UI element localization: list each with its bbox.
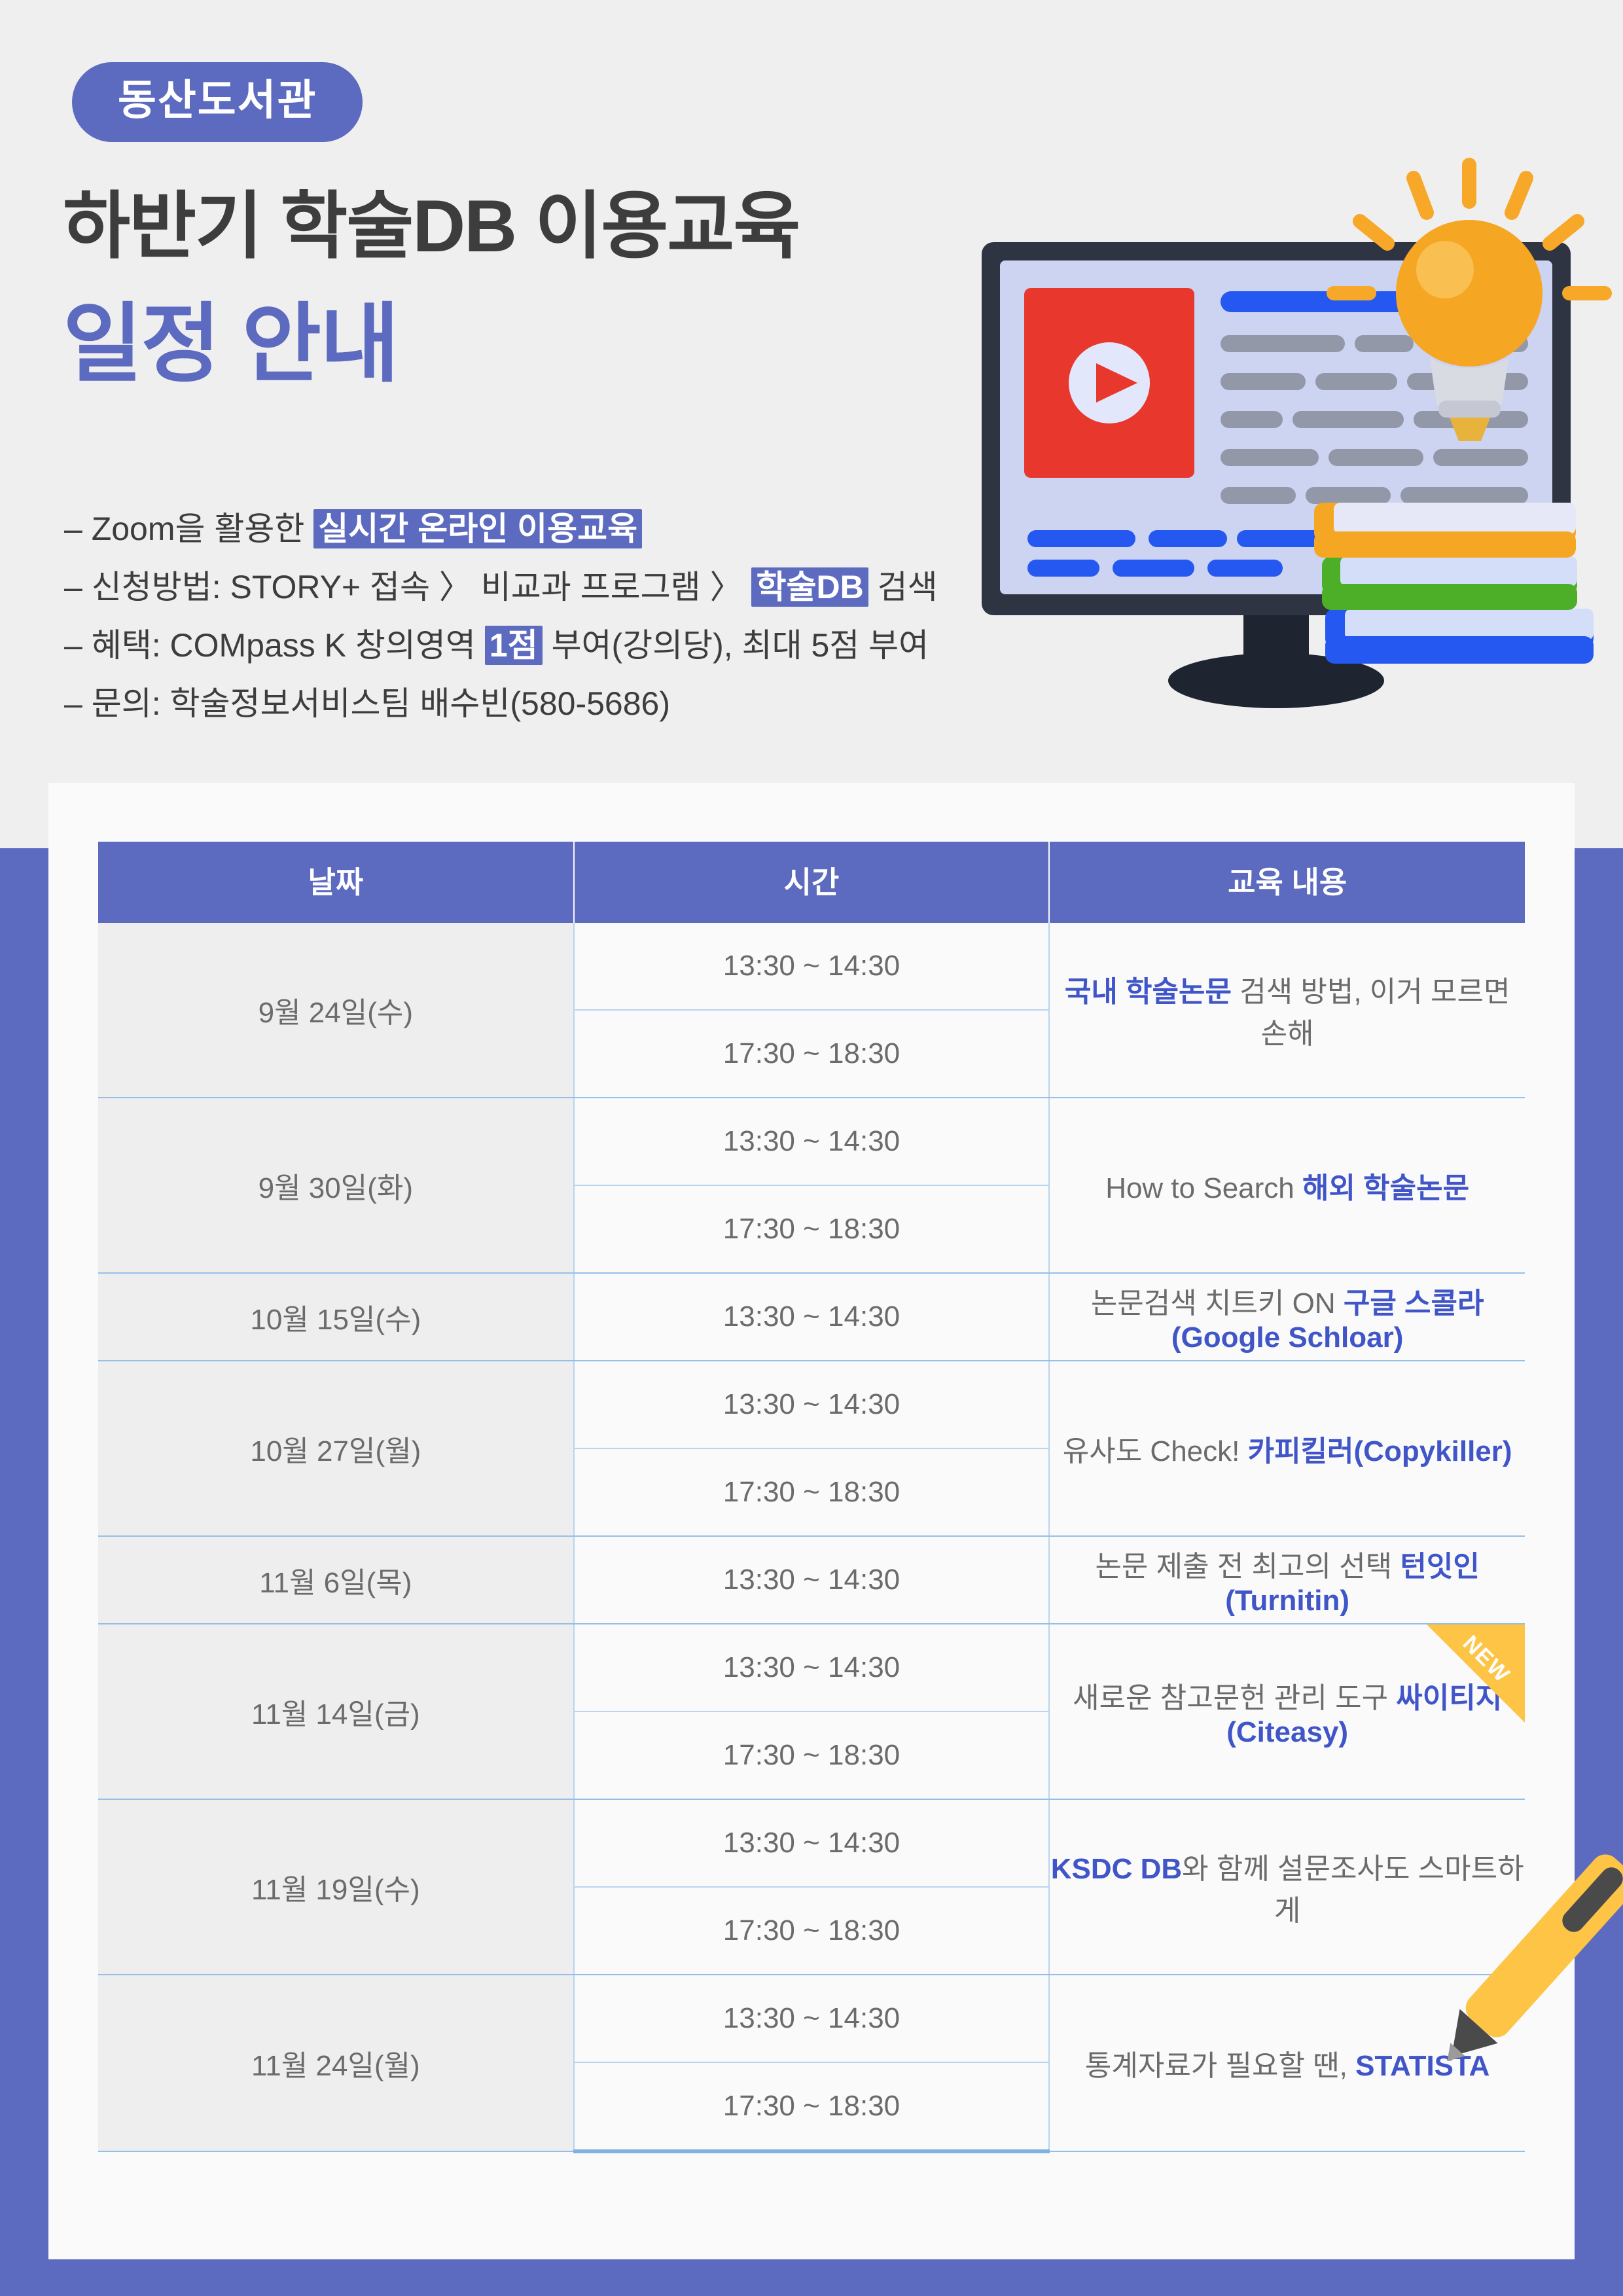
content-prefix: 논문검색 치트키 ON [1091,1287,1344,1319]
column-header-content: 교육 내용 [1049,842,1525,923]
table-header-row: 날짜 시간 교육 내용 [98,842,1525,923]
bullet-text: 혜택: COMpass K 창의영역 [92,627,485,664]
bullet-highlight: 학술DB [751,567,868,607]
cell-date: 11월 14일(금) [98,1624,574,1799]
cell-time: 13:30 ~ 14:30 [574,1273,1050,1361]
bullet-highlight: 실시간 온라인 이용교육 [313,509,642,548]
cell-time: 13:30 ~ 14:30 [574,1799,1050,1887]
column-header-date: 날짜 [98,842,574,923]
cell-date: 11월 6일(목) [98,1536,574,1624]
content-suffix: 와 함께 설문조사도 스마트하게 [1182,1853,1524,1927]
bullet-dash: – [64,569,92,605]
cell-date: 11월 24일(월) [98,1975,574,2151]
monitor-illustration [969,151,1623,740]
cell-time: 13:30 ~ 14:30 [574,923,1050,1010]
table-row: 9월 30일(화)13:30 ~ 14:30How to Search 해외 학… [98,1098,1525,1185]
cell-time: 13:30 ~ 14:30 [574,1536,1050,1624]
bullet-highlight: 1점 [485,626,543,665]
cell-content: 국내 학술논문 검색 방법, 이거 모르면 손해 [1049,923,1525,1098]
cell-time: 17:30 ~ 18:30 [574,1887,1050,1975]
cell-content: KSDC DB와 함께 설문조사도 스마트하게 [1049,1799,1525,1975]
cell-content: 통계자료가 필요할 땐, STATISTA [1049,1975,1525,2151]
cell-content: 논문 제출 전 최고의 선택 턴잇인(Turnitin) [1049,1536,1525,1624]
new-ribbon: NEW [1427,1624,1525,1723]
cell-time: 17:30 ~ 18:30 [574,1010,1050,1098]
bullet-dash: – [64,685,92,722]
page-title-line2: 일정 안내 [63,301,398,387]
new-ribbon-label: NEW [1452,1625,1520,1694]
bullet-text: Zoom을 활용한 [92,511,314,547]
cell-time: 13:30 ~ 14:30 [574,1098,1050,1185]
bullet-item-4: – 문의: 학술정보서비스팀 배수빈(580-5686) [64,677,938,730]
table-row: 10월 27일(월)13:30 ~ 14:30유사도 Check! 카피킬러(C… [98,1361,1525,1448]
column-header-time: 시간 [574,842,1050,923]
cell-time: 13:30 ~ 14:30 [574,1361,1050,1448]
content-prefix: How to Search [1105,1172,1302,1204]
table-row: 9월 24일(수)13:30 ~ 14:30국내 학술논문 검색 방법, 이거 … [98,923,1525,1010]
content-prefix: 새로운 참고문헌 관리 도구 [1073,1682,1396,1714]
cell-content: 유사도 Check! 카피킬러(Copykiller) [1049,1361,1525,1536]
table-row: 10월 15일(수)13:30 ~ 14:30논문검색 치트키 ON 구글 스콜… [98,1273,1525,1361]
content-prefix: 논문 제출 전 최고의 선택 [1095,1551,1400,1583]
table-row: 11월 19일(수)13:30 ~ 14:30KSDC DB와 함께 설문조사도… [98,1799,1525,1887]
content-suffix: 검색 방법, 이거 모르면 손해 [1232,976,1510,1050]
table-row: 11월 6일(목)13:30 ~ 14:30논문 제출 전 최고의 선택 턴잇인… [98,1536,1525,1624]
content-emphasis: KSDC DB [1051,1853,1182,1885]
cell-date: 11월 19일(수) [98,1799,574,1975]
bullet-item-1: – Zoom을 활용한 실시간 온라인 이용교육 [64,503,938,556]
bullet-text-tail: 검색 [868,569,938,605]
table-row: 11월 24일(월)13:30 ~ 14:30통계자료가 필요할 땐, STAT… [98,1975,1525,2062]
cell-time: 13:30 ~ 14:30 [574,1975,1050,2062]
cell-date: 9월 30일(화) [98,1098,574,1273]
cell-time: 17:30 ~ 18:30 [574,2062,1050,2151]
bullet-item-2: – 신청방법: STORY+ 접속 〉 비교과 프로그램 〉 학술DB 검색 [64,561,938,614]
bullet-dash: – [64,511,92,547]
content-emphasis: 해외 학술논문 [1302,1172,1469,1204]
content-emphasis: 카피킬러(Copykiller) [1248,1435,1512,1467]
info-bullet-list: – Zoom을 활용한 실시간 온라인 이용교육– 신청방법: STORY+ 접… [64,503,938,736]
content-prefix: 통계자료가 필요할 땐, [1085,2050,1355,2082]
cell-content: 새로운 참고문헌 관리 도구 싸이티지(Citeasy)NEW [1049,1624,1525,1799]
content-emphasis: 국내 학술논문 [1065,976,1232,1008]
bullet-text-tail: 부여(강의당), 최대 5점 부여 [543,627,929,664]
cell-content: How to Search 해외 학술논문 [1049,1098,1525,1273]
schedule-table: 날짜 시간 교육 내용 9월 24일(수)13:30 ~ 14:30국내 학술논… [98,842,1525,2153]
bullet-dash: – [64,627,92,664]
library-badge: 동산도서관 [72,62,363,142]
content-prefix: 유사도 Check! [1063,1435,1248,1467]
bullet-item-3: – 혜택: COMpass K 창의영역 1점 부여(강의당), 최대 5점 부… [64,619,938,672]
cell-content: 논문검색 치트키 ON 구글 스콜라(Google Schloar) [1049,1273,1525,1361]
cell-time: 13:30 ~ 14:30 [574,1624,1050,1712]
table-row: 11월 14일(금)13:30 ~ 14:30새로운 참고문헌 관리 도구 싸이… [98,1624,1525,1712]
cell-time: 17:30 ~ 18:30 [574,1185,1050,1273]
content-emphasis: STATISTA [1355,2050,1489,2082]
page-title-line1: 하반기 학술DB 이용교육 [63,190,799,263]
bullet-text: 문의: 학술정보서비스팀 배수빈(580-5686) [92,685,670,722]
cell-time: 17:30 ~ 18:30 [574,1712,1050,1799]
cell-time: 17:30 ~ 18:30 [574,1448,1050,1536]
cell-date: 10월 15일(수) [98,1273,574,1361]
bullet-text: 신청방법: STORY+ 접속 〉 비교과 프로그램 〉 [92,569,752,605]
cell-date: 9월 24일(수) [98,923,574,1098]
cell-date: 10월 27일(월) [98,1361,574,1536]
